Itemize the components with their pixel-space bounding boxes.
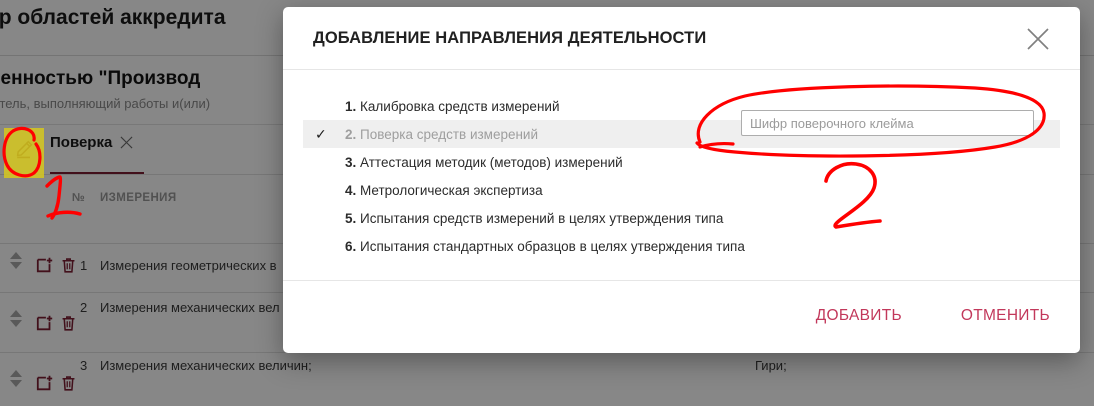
dialog-body: 1. Калибровка средств измерений ✓ 2. Пов… <box>283 70 1080 272</box>
activity-option-5-label: 5. Испытания средств измерений в целях у… <box>345 211 723 226</box>
dialog-footer: ДОБАВИТЬ ОТМЕНИТЬ <box>283 281 1080 353</box>
activity-option-4-label: 4. Метрологическая экспертиза <box>345 183 543 198</box>
dialog-title: ДОБАВЛЕНИЕ НАПРАВЛЕНИЯ ДЕЯТЕЛЬНОСТИ <box>313 29 706 48</box>
cancel-button[interactable]: ОТМЕНИТЬ <box>955 299 1056 333</box>
verification-stamp-code-input[interactable] <box>741 110 1034 136</box>
activity-option-3[interactable]: 3. Аттестация методик (методов) измерени… <box>303 148 1060 176</box>
activity-option-3-label: 3. Аттестация методик (методов) измерени… <box>345 155 623 170</box>
close-icon <box>1025 26 1051 52</box>
add-button[interactable]: ДОБАВИТЬ <box>810 299 908 333</box>
activity-option-1-label: 1. Калибровка средств измерений <box>345 99 559 114</box>
screen-root: уратор областей аккредита ответственност… <box>0 0 1094 406</box>
dialog-header: ДОБАВЛЕНИЕ НАПРАВЛЕНИЯ ДЕЯТЕЛЬНОСТИ <box>283 7 1080 69</box>
add-activity-dialog: ДОБАВЛЕНИЕ НАПРАВЛЕНИЯ ДЕЯТЕЛЬНОСТИ 1. К… <box>283 7 1080 353</box>
dialog-close-button[interactable] <box>1020 21 1056 57</box>
activity-option-4[interactable]: 4. Метрологическая экспертиза <box>303 176 1060 204</box>
activity-option-5[interactable]: 5. Испытания средств измерений в целях у… <box>303 204 1060 232</box>
activity-option-2-label: 2. Поверка средств измерений <box>345 127 538 142</box>
check-icon: ✓ <box>315 126 327 143</box>
activity-option-6[interactable]: 6. Испытания стандартных образцов в целя… <box>303 232 1060 260</box>
activity-option-6-label: 6. Испытания стандартных образцов в целя… <box>345 239 745 254</box>
